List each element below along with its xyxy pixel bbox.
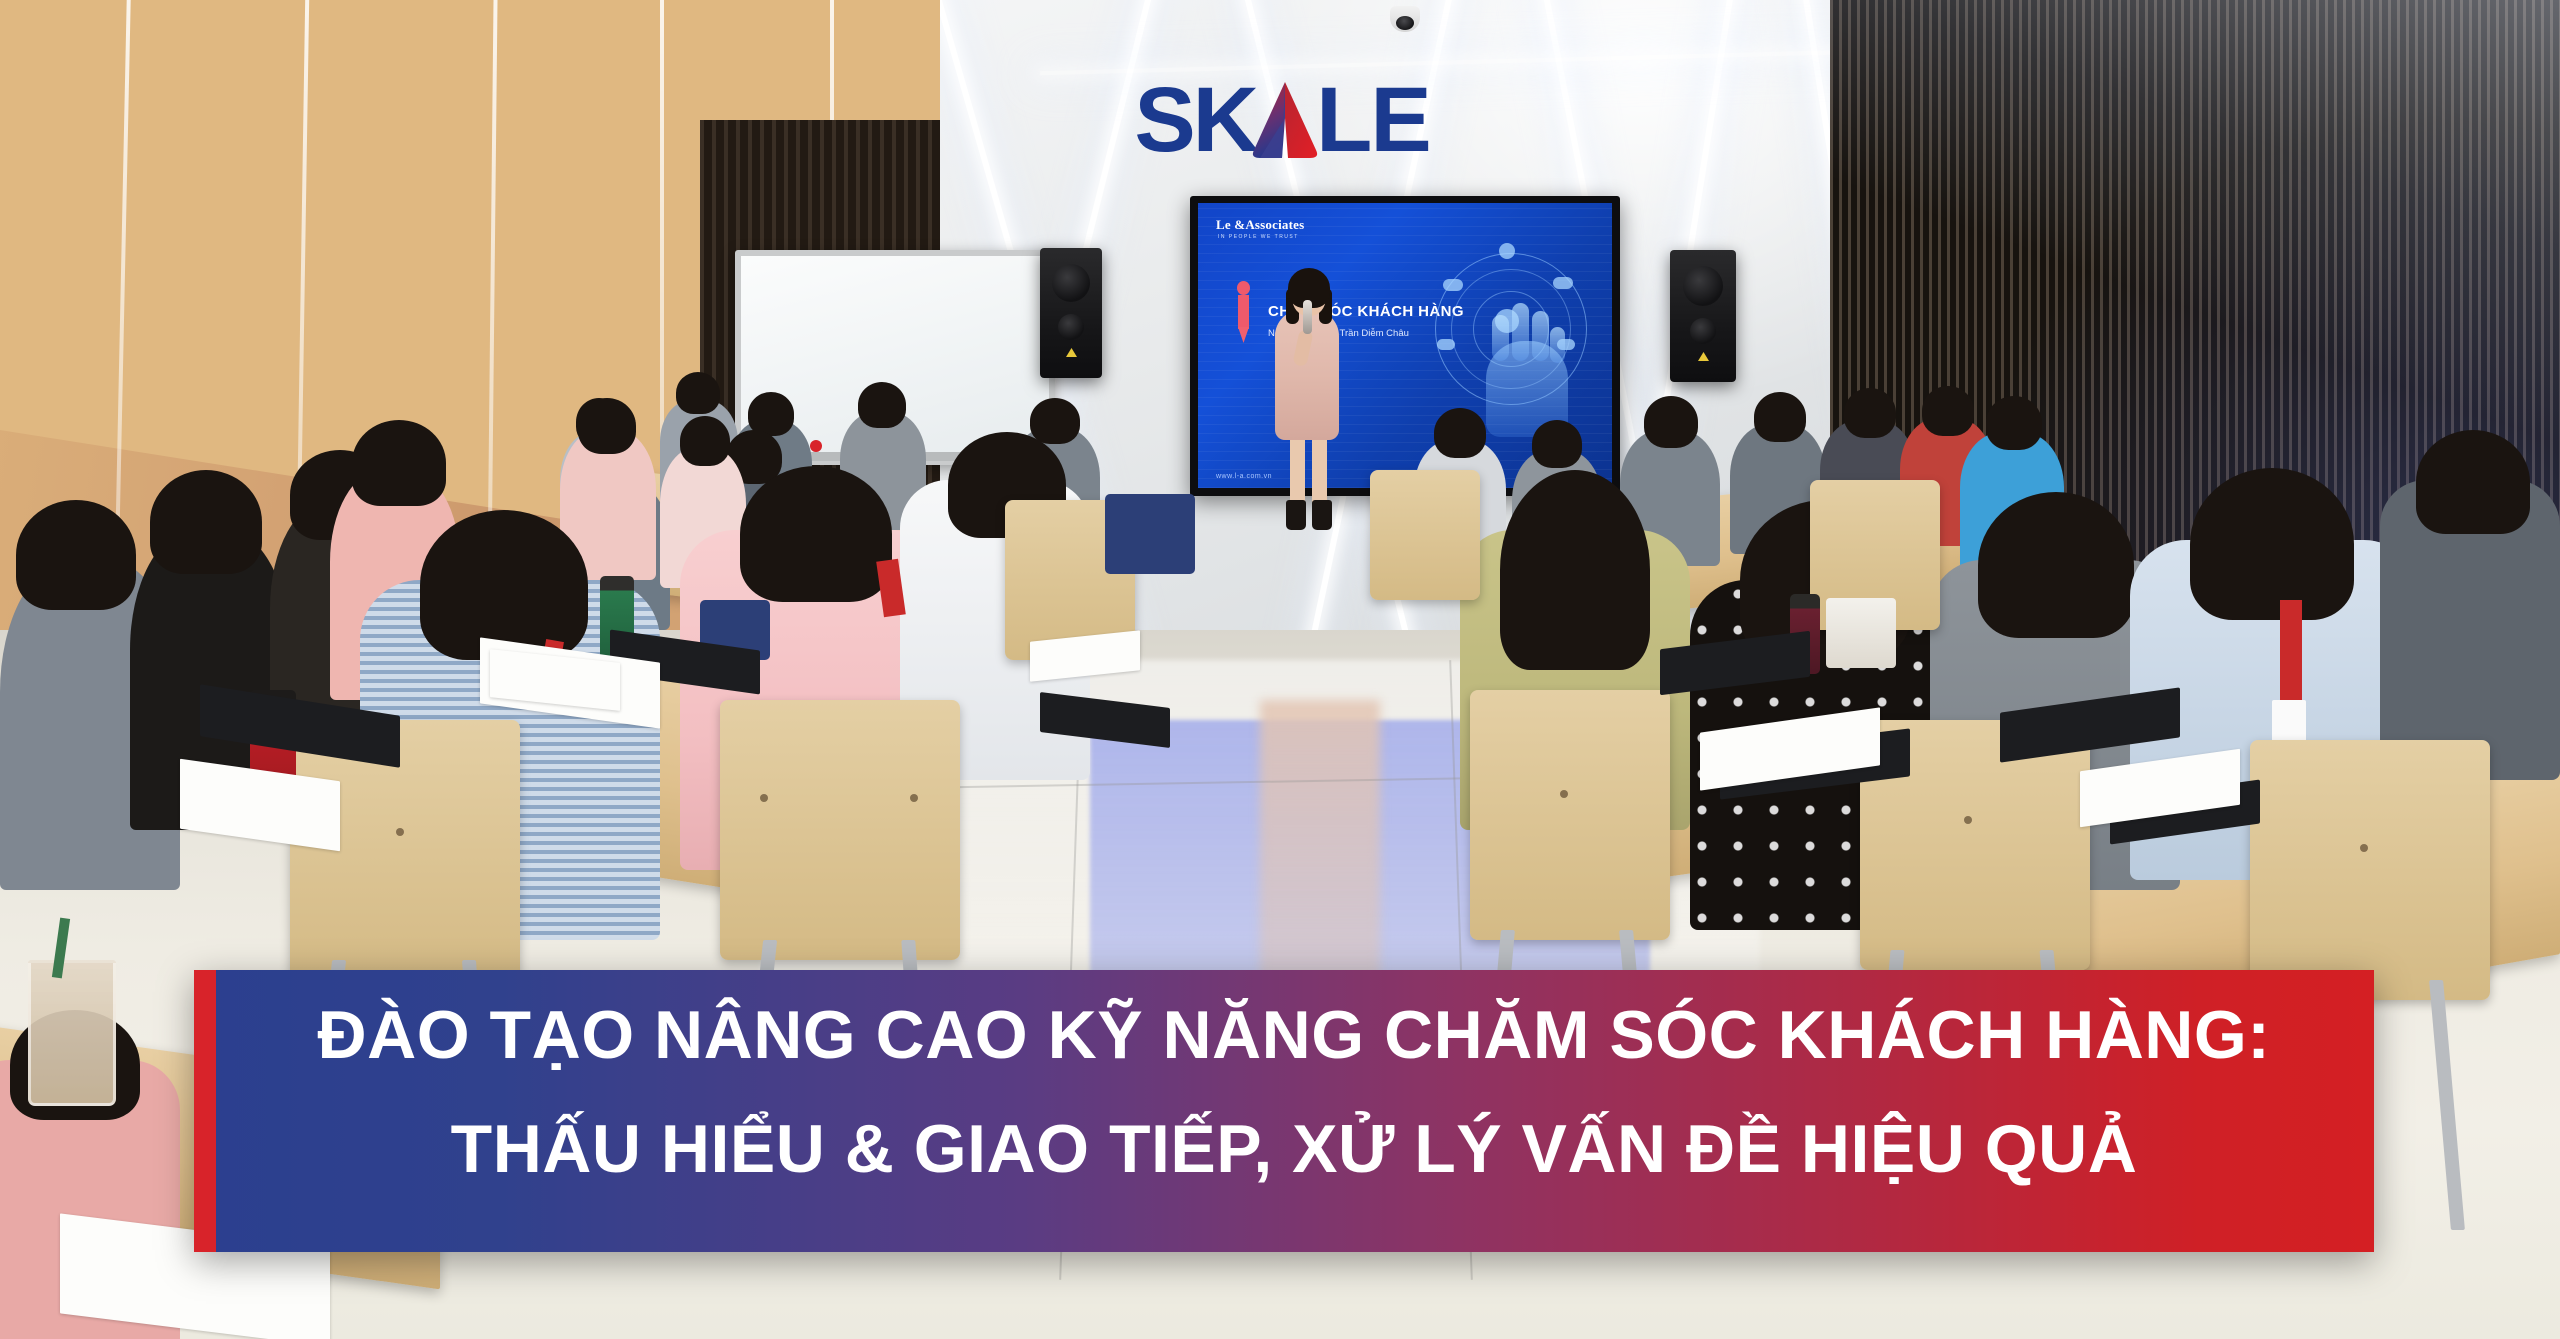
banner-line-2: THẤU HIỂU & GIAO TIẾP, XỬ LÝ VẤN ĐỀ HIỆU…	[254, 1110, 2334, 1188]
laptop-5	[200, 684, 400, 768]
name-card-tent-2	[1030, 630, 1140, 682]
title-banner: ĐÀO TẠO NÂNG CAO KỸ NĂNG CHĂM SÓC KHÁCH …	[194, 970, 2374, 1252]
laptop-3	[2000, 687, 2180, 762]
banner-accent-bar	[194, 970, 216, 1252]
laptop-1	[1660, 631, 1810, 695]
paper-sheet-1	[180, 759, 340, 851]
iced-coffee-cup	[28, 960, 116, 1106]
banner-line-1: ĐÀO TẠO NÂNG CAO KỸ NĂNG CHĂM SÓC KHÁCH …	[254, 996, 2334, 1074]
event-photo: SK LE	[0, 0, 2560, 1339]
tissue-box	[1826, 598, 1896, 668]
laptop-7	[1040, 692, 1170, 748]
